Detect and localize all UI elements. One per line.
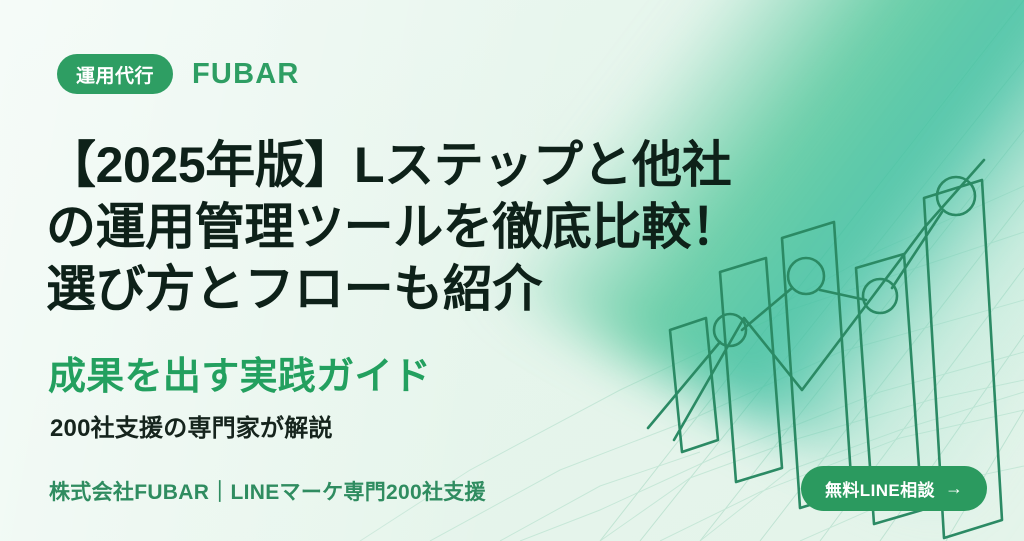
brand-row: 運用代行 FUBAR: [57, 54, 300, 94]
headline-line-2: の運用管理ツールを徹底比較！: [46, 196, 806, 258]
subtitle-note: 200社支援の専門家が解説: [50, 408, 333, 443]
headline-line-1: 【2025年版】Lステップと他社: [46, 134, 806, 196]
service-type-badge: 運用代行: [57, 54, 173, 94]
brand-name: FUBAR: [192, 58, 300, 91]
banner-content: 運用代行 FUBAR 【2025年版】Lステップと他社 の運用管理ツールを徹底比…: [0, 0, 1024, 541]
line-marketing-banner: 運用代行 FUBAR 【2025年版】Lステップと他社 の運用管理ツールを徹底比…: [0, 0, 1024, 541]
arrow-right-icon: →: [945, 478, 963, 499]
headline-line-3: 選び方とフローも紹介: [46, 258, 806, 320]
free-line-consultation-button[interactable]: 無料LINE相談 →: [801, 466, 987, 511]
subtitle: 成果を出す実践ガイド: [48, 345, 431, 400]
company-footer-text: 株式会社FUBAR｜LINEマーケ専門200社支援: [49, 476, 486, 506]
page-title: 【2025年版】Lステップと他社 の運用管理ツールを徹底比較！ 選び方とフローも…: [46, 134, 806, 320]
cta-label: 無料LINE相談: [825, 476, 935, 501]
